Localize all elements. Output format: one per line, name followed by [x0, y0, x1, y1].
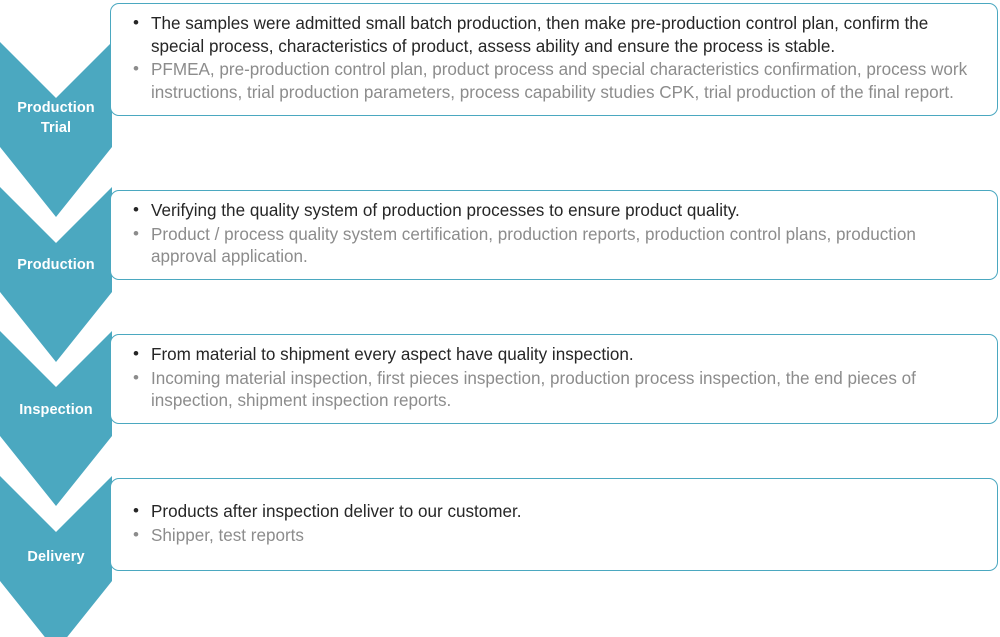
chevron-label-production: Production [0, 256, 112, 276]
secondary-bullet: Shipper, test reports [129, 525, 981, 548]
secondary-bullet: Product / process quality system certifi… [129, 224, 981, 269]
primary-bullet: From material to shipment every aspect h… [129, 344, 981, 367]
chevron-label-inspection: Inspection [0, 401, 112, 421]
chevron-label-delivery: Delivery [0, 548, 112, 568]
chevron-column: Production Trial Production Inspection D… [0, 0, 112, 637]
bullet-list: Verifying the quality system of producti… [129, 200, 981, 269]
chevron-label-production-trial: Production Trial [0, 99, 112, 138]
step-box-production-trial: The samples were admitted small batch pr… [110, 3, 998, 116]
chevron-label-line2: Trial [0, 119, 112, 139]
chevron-label-line1: Production [0, 99, 112, 119]
primary-bullet: The samples were admitted small batch pr… [129, 13, 981, 58]
primary-bullet: Products after inspection deliver to our… [129, 501, 981, 524]
process-flow-diagram: Production Trial Production Inspection D… [0, 0, 1000, 637]
step-box-production: Verifying the quality system of producti… [110, 190, 998, 280]
bullet-list: The samples were admitted small batch pr… [129, 13, 981, 105]
step-box-delivery: Products after inspection deliver to our… [110, 478, 998, 571]
secondary-bullet: Incoming material inspection, first piec… [129, 368, 981, 413]
chevron-label-line1: Inspection [0, 401, 112, 421]
secondary-bullet: PFMEA, pre-production control plan, prod… [129, 59, 981, 104]
step-box-inspection: From material to shipment every aspect h… [110, 334, 998, 424]
chevron-label-line1: Delivery [0, 548, 112, 568]
chevron-label-line1: Production [0, 256, 112, 276]
bullet-list: From material to shipment every aspect h… [129, 344, 981, 413]
bullet-list: Products after inspection deliver to our… [129, 501, 981, 547]
primary-bullet: Verifying the quality system of producti… [129, 200, 981, 223]
